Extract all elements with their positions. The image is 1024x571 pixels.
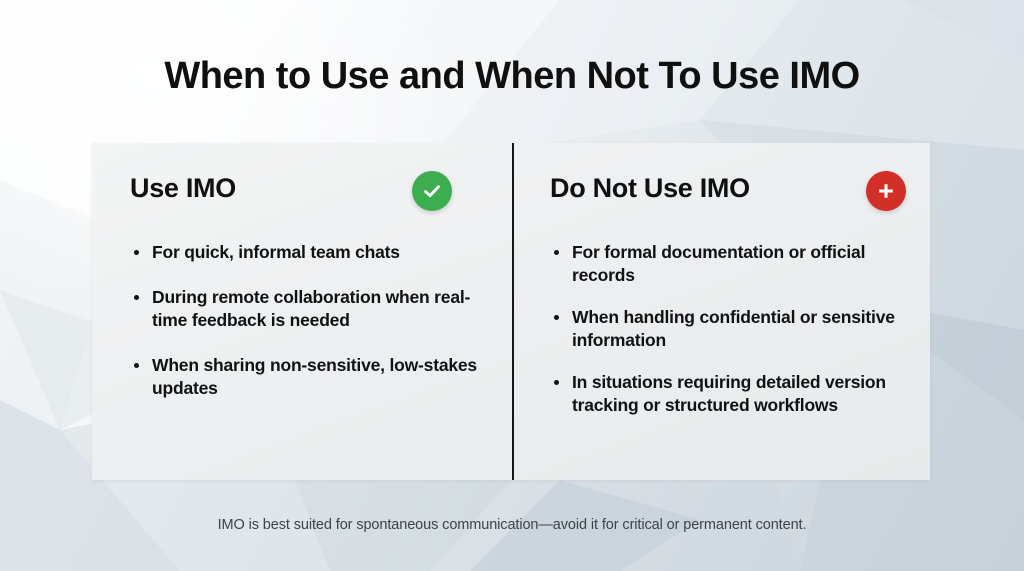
column-do-not-use-imo: Do Not Use IMO For formal documentation … [512,143,930,480]
list-item: For formal documentation or official rec… [550,241,902,287]
check-circle-icon [412,171,452,211]
comparison-card: Use IMO For quick, informal team chats D… [92,143,930,480]
footnote-text: IMO is best suited for spontaneous commu… [0,517,1024,533]
page-title: When to Use and When Not To Use IMO [0,55,1024,98]
column-header-left: Use IMO [130,171,482,227]
plus-circle-icon [866,171,906,211]
points-list-right: For formal documentation or official rec… [550,241,906,417]
column-heading-right: Do Not Use IMO [550,171,906,205]
list-item: When sharing non-sensitive, low-stakes u… [130,354,482,400]
points-list-left: For quick, informal team chats During re… [130,241,482,400]
column-use-imo: Use IMO For quick, informal team chats D… [92,143,512,480]
list-item: When handling confidential or sensitive … [550,306,902,352]
column-header-right: Do Not Use IMO [550,171,906,227]
column-divider [512,143,514,480]
slide-canvas: When to Use and When Not To Use IMO Use … [0,0,1024,571]
list-item: During remote collaboration when real-ti… [130,286,482,332]
list-item: In situations requiring detailed version… [550,371,902,417]
list-item: For quick, informal team chats [130,241,482,264]
